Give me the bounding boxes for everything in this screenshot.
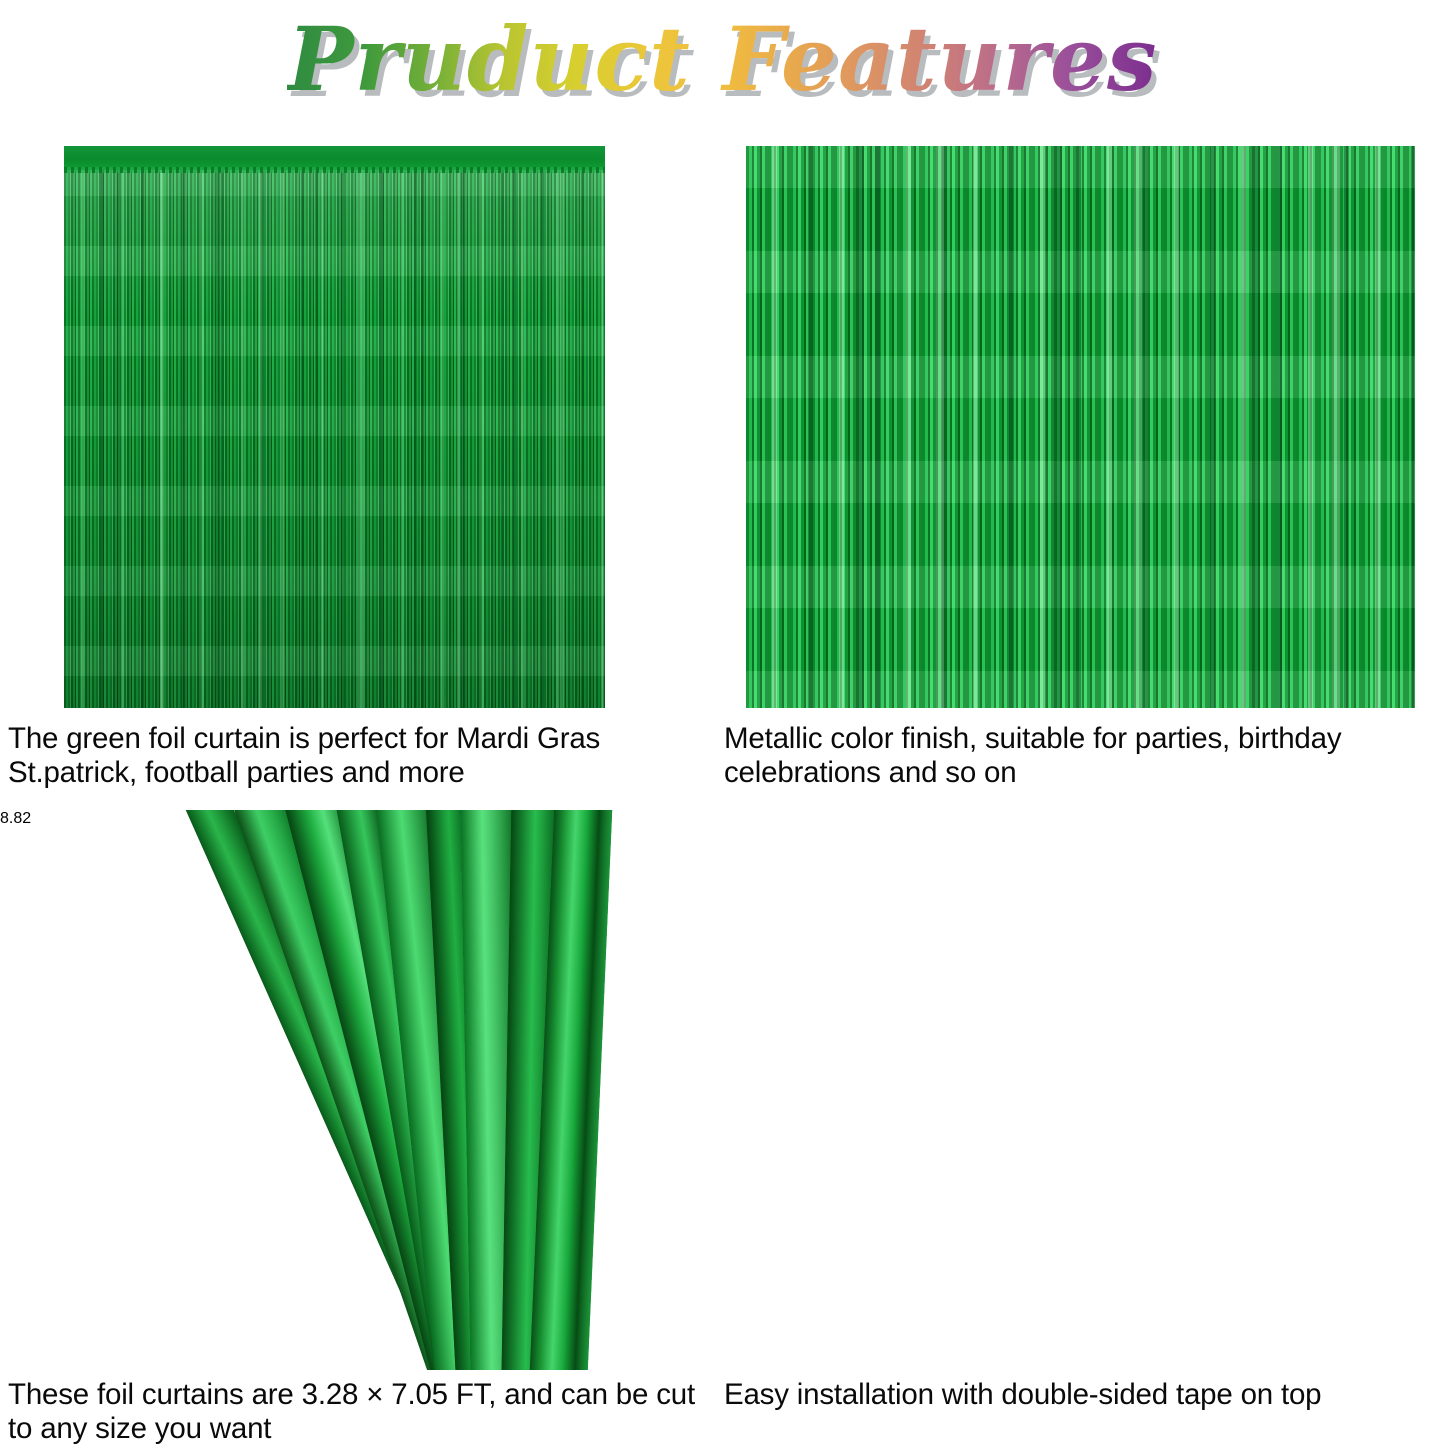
caption-bottom-right: Easy installation with double-sided tape… bbox=[724, 1378, 1440, 1412]
foil-strips-group bbox=[0, 810, 672, 1370]
page-title: Pruduct Features Pruduct Features bbox=[287, 15, 1157, 103]
caption-top-right: Metallic color finish, suitable for part… bbox=[724, 722, 1440, 790]
foil-fringe-texture bbox=[64, 166, 605, 708]
page-title-text: Pruduct Features bbox=[287, 7, 1157, 111]
page-header: Pruduct Features Pruduct Features bbox=[0, 0, 1445, 118]
product-image-cutting-foil-with-scissors: 8.82 bbox=[0, 810, 672, 1370]
product-image-green-foil-closeup bbox=[746, 146, 1415, 708]
product-image-green-foil-curtain-full bbox=[64, 146, 605, 708]
caption-top-left: The green foil curtain is perfect for Ma… bbox=[8, 722, 708, 790]
curtain-header-strip bbox=[64, 146, 605, 170]
foil-strand-texture bbox=[746, 146, 1415, 708]
caption-bottom-left: These foil curtains are 3.28 × 7.05 FT, … bbox=[8, 1378, 708, 1446]
